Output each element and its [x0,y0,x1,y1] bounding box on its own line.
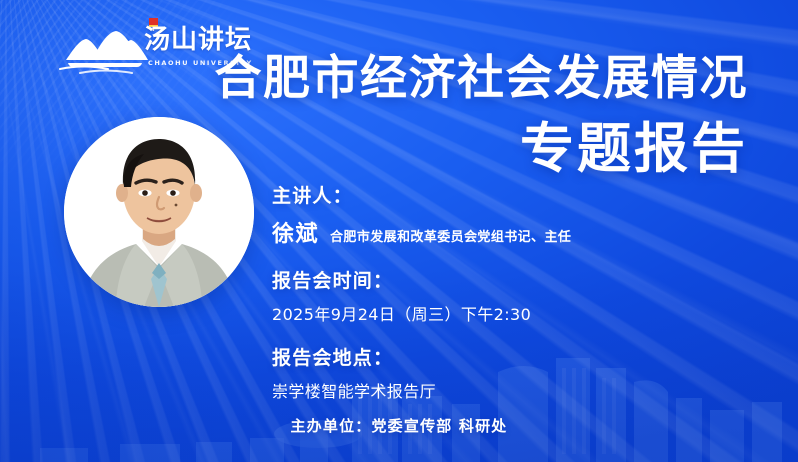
speaker-row: 徐斌 合肥市发展和改革委员会党组书记、主任 [272,216,692,248]
logo-chinese-name: 汤山讲坛 [144,27,252,53]
event-info-block: 主讲人： 徐斌 合肥市发展和改革委员会党组书记、主任 报告会时间： 2025年9… [272,186,692,402]
speaker-section: 主讲人： 徐斌 合肥市发展和改革委员会党组书记、主任 [272,186,692,248]
organizer-footer: 主办单位：党委宣传部 科研处 [0,415,798,436]
time-label: 报告会时间： [272,271,692,292]
poster-headline: 合肥市经济社会发展情况 专题报告 [215,55,749,176]
speaker-title: 合肥市发展和改革委员会党组书记、主任 [330,226,571,245]
brand-logo: 汤山讲坛 CHAOHU UNIVERSITY [58,22,236,78]
time-value: 2025年9月24日（周三）下午2:30 [272,301,692,325]
time-section: 报告会时间： 2025年9月24日（周三）下午2:30 [272,271,692,325]
headline-line-2: 专题报告 [215,122,749,176]
headline-line-1: 合肥市经济社会发展情况 [215,55,749,102]
place-label: 报告会地点： [272,348,692,369]
place-value: 崇学楼智能学术报告厅 [272,378,692,402]
speaker-label: 主讲人： [272,186,692,207]
place-section: 报告会地点： 崇学楼智能学术报告厅 [272,348,692,402]
speaker-portrait-photo [64,117,254,307]
poster-canvas: 汤山讲坛 CHAOHU UNIVERSITY 合肥市经济社会发展情况 专题报告 [0,0,798,462]
speaker-name: 徐斌 [272,216,319,248]
mountain-water-logo-icon [58,24,154,74]
